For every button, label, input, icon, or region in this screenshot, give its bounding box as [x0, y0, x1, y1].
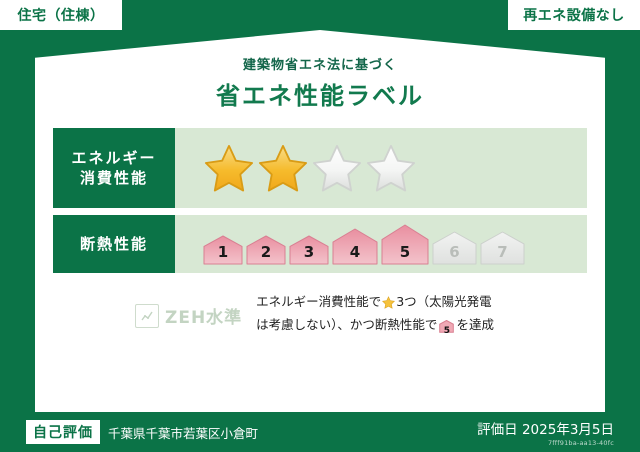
house-shape-icon — [203, 235, 243, 265]
zeh-description: エネルギー消費性能で 3つ（太陽光発電 は考慮しない）、かつ断熱性能で 5 を達… — [256, 292, 494, 339]
badge-renewable-equipment: 再エネ設備なし — [508, 0, 640, 30]
energy-label-card: 住宅（住棟） 再エネ設備なし 建築物省エネ法に基づく 省エネ性能ラベル エネルギ… — [0, 0, 640, 452]
zeh-desc-part-a: エネルギー消費性能で — [256, 294, 381, 309]
title-block: 建築物省エネ法に基づく 省エネ性能ラベル — [35, 54, 605, 111]
star-filled-icon — [257, 143, 309, 193]
energy-label-line1: エネルギー — [71, 148, 156, 168]
insulation-level-7: 7 — [480, 231, 525, 265]
property-address: 千葉県千葉市若葉区小倉町 — [108, 423, 258, 442]
footer-bar: 自己評価 千葉県千葉市若葉区小倉町 評価日 2025年3月5日 7fff91ba… — [0, 412, 640, 452]
inline-house-badge: 5 — [439, 319, 454, 339]
self-evaluation-badge: 自己評価 — [26, 420, 100, 444]
house-shape-icon — [432, 231, 477, 265]
footer-left-group: 自己評価 千葉県千葉市若葉区小倉町 — [26, 420, 477, 444]
house-shape-icon — [480, 231, 525, 265]
energy-label-line2: 消費性能 — [80, 168, 148, 188]
house-shape-icon — [289, 235, 329, 265]
house-shape-icon — [381, 224, 429, 265]
insulation-rating-field: 1234567 — [175, 215, 587, 273]
insulation-level-1: 1 — [203, 235, 243, 265]
insulation-scale: 1234567 — [203, 224, 525, 265]
zeh-desc-part-c: は考慮しない）、かつ断熱性能で — [256, 317, 437, 332]
page-title: 省エネ性能ラベル — [35, 76, 605, 111]
energy-rating-field — [175, 128, 587, 208]
badge-building-type: 住宅（住棟） — [0, 0, 122, 30]
insulation-level-3: 3 — [289, 235, 329, 265]
insulation-level-6: 6 — [432, 231, 477, 265]
title-subtitle: 建築物省エネ法に基づく — [35, 54, 605, 73]
zeh-badge: ZEH水準 — [135, 303, 242, 328]
label-body: 建築物省エネ法に基づく 省エネ性能ラベル エネルギー 消費性能 断熱性能 123… — [35, 30, 605, 412]
star-empty-icon — [311, 143, 363, 193]
zeh-desc-part-d: を達成 — [456, 317, 494, 332]
footer-right-group: 評価日 2025年3月5日 7fff91ba-aa13-40fc — [477, 418, 614, 447]
insulation-performance-label: 断熱性能 — [53, 215, 175, 273]
insulation-level-5: 5 — [381, 224, 429, 265]
energy-performance-row: エネルギー 消費性能 — [53, 128, 587, 208]
inline-house-number: 5 — [439, 324, 454, 338]
house-shape-icon — [332, 228, 378, 265]
insulation-level-2: 2 — [246, 235, 286, 265]
star-empty-icon — [365, 143, 417, 193]
star-rating — [203, 143, 417, 193]
zeh-label: ZEH水準 — [165, 303, 242, 328]
star-filled-icon — [203, 143, 255, 193]
inline-star-icon — [382, 295, 395, 315]
document-id: 7fff91ba-aa13-40fc — [477, 439, 614, 447]
zeh-standard-row: ZEH水準 エネルギー消費性能で 3つ（太陽光発電 は考慮しない）、かつ断熱性能… — [135, 292, 565, 339]
insulation-performance-row: 断熱性能 1234567 — [53, 215, 587, 273]
energy-performance-label: エネルギー 消費性能 — [53, 128, 175, 208]
insulation-label-text: 断熱性能 — [80, 234, 148, 254]
evaluation-date: 評価日 2025年3月5日 — [477, 418, 614, 438]
insulation-level-4: 4 — [332, 228, 378, 265]
zeh-desc-part-b: 3つ（太陽光発電 — [396, 294, 491, 309]
house-shape-icon — [246, 235, 286, 265]
chart-trend-icon — [135, 304, 159, 328]
